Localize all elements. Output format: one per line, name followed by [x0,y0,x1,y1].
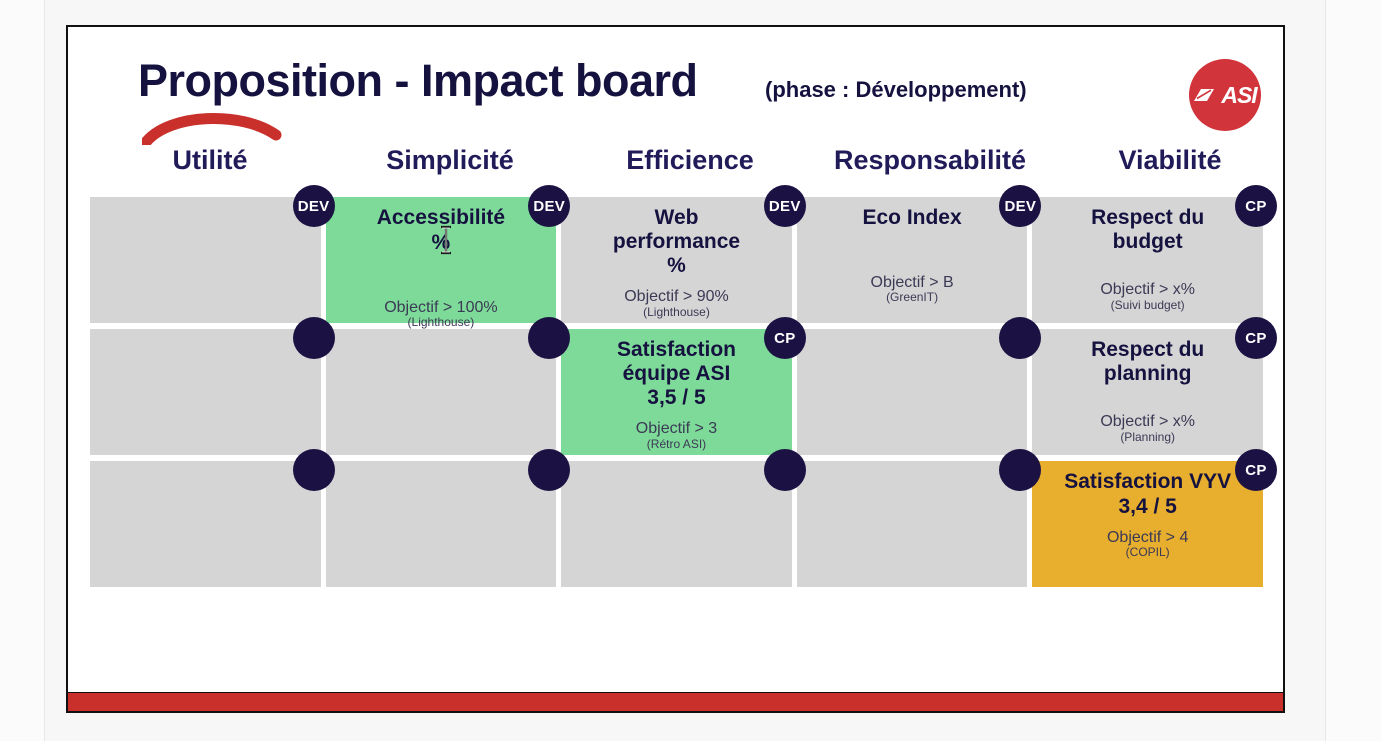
impact-cell-title: Eco Index [803,206,1022,230]
impact-cell-accessibilite[interactable]: DEV Accessibilité % Objectif > 100% (Lig… [326,197,557,323]
impact-cell-title: Satisfaction équipe ASI [567,338,786,385]
impact-cell-utilite-2[interactable] [90,329,321,455]
impact-cell-value: % [567,254,786,278]
owner-badge-empty[interactable] [293,449,335,491]
slide-canvas: Proposition - Impact board (phase : Déve… [66,25,1285,713]
column-header-viabilite: Viabilité [1050,145,1290,176]
owner-badge-empty[interactable] [293,317,335,359]
impact-cell-responsabilite-2[interactable] [797,329,1028,455]
column-header-utilite: Utilité [90,145,330,176]
impact-cell-efficience-3[interactable] [561,461,792,587]
owner-badge-empty[interactable] [764,449,806,491]
impact-cell-source: (GreenIT) [803,291,1022,304]
impact-cell-value: 3,5 / 5 [567,386,786,410]
page-gutter-right [1325,0,1326,741]
impact-board-grid: DEV DEV Accessibilité % Objectif > 100% … [90,197,1268,593]
impact-cell-objective: Objectif > 100% [332,299,551,317]
impact-cell-value: 3,4 / 5 [1038,495,1257,519]
column-header-efficience: Efficience [570,145,810,176]
impact-cell-objective: Objectif > x% [1038,281,1257,299]
impact-cell-utilite-1[interactable]: DEV [90,197,321,323]
impact-cell-satisfaction-vyv[interactable]: CP Satisfaction VYV 3,4 / 5 Objectif > 4… [1032,461,1263,587]
owner-badge-empty[interactable] [528,449,570,491]
impact-cell-source: (Rétro ASI) [567,438,786,451]
text-caret-icon [439,225,453,255]
impact-cell-responsabilite-3[interactable] [797,461,1028,587]
owner-badge-empty[interactable] [528,317,570,359]
impact-cell-simplicite-2[interactable] [326,329,557,455]
impact-cell-source: (Lighthouse) [567,306,786,319]
slide-viewer-page: Proposition - Impact board (phase : Déve… [0,0,1381,741]
impact-cell-simplicite-3[interactable] [326,461,557,587]
column-header-row: Utilité Simplicité Efficience Responsabi… [90,145,1265,176]
owner-badge-cp[interactable]: CP [764,317,806,359]
impact-cell-objective: Objectif > B [803,274,1022,292]
slide-footer-bar [68,692,1283,711]
asi-swoosh-icon [1193,87,1215,103]
page-left-margin [0,0,44,741]
impact-cell-source: (Lighthouse) [332,316,551,329]
page-right-margin [1326,0,1381,741]
impact-cell-objective: Objectif > 90% [567,288,786,306]
page-title: Proposition - Impact board [138,55,698,107]
impact-cell-source: (COPIL) [1038,546,1257,559]
impact-cell-source: (Suivi budget) [1038,299,1257,312]
impact-cell-source: (Planning) [1038,431,1257,444]
impact-cell-eco-index[interactable]: DEV Eco Index Objectif > B (GreenIT) [797,197,1028,323]
owner-badge-cp[interactable]: CP [1235,317,1277,359]
impact-cell-satisfaction-equipe-asi[interactable]: CP Satisfaction équipe ASI 3,5 / 5 Objec… [561,329,792,455]
grid-row: CP Satisfaction équipe ASI 3,5 / 5 Objec… [90,329,1268,455]
slide-header: Proposition - Impact board (phase : Déve… [68,27,1283,137]
impact-cell-title: Respect du budget [1038,206,1257,253]
asi-logo: ASI [1189,59,1261,131]
impact-cell-objective: Objectif > 3 [567,420,786,438]
phase-label: (phase : Développement) [765,77,1027,103]
owner-badge-cp[interactable]: CP [1235,185,1277,227]
impact-cell-objective: Objectif > 4 [1038,529,1257,547]
owner-badge-cp[interactable]: CP [1235,449,1277,491]
impact-cell-web-performance[interactable]: DEV Web performance % Objectif > 90% (Li… [561,197,792,323]
page-gutter-left [44,0,45,741]
column-header-responsabilite: Responsabilité [810,145,1050,176]
grid-row: CP Satisfaction VYV 3,4 / 5 Objectif > 4… [90,461,1268,587]
title-underline-swoosh-icon [142,109,282,145]
impact-cell-title: Web performance [567,206,786,253]
owner-badge-dev[interactable]: DEV [528,185,570,227]
grid-row: DEV DEV Accessibilité % Objectif > 100% … [90,197,1268,323]
column-header-simplicite: Simplicité [330,145,570,176]
asi-logo-text: ASI [1221,82,1256,109]
impact-cell-title: Respect du planning [1038,338,1257,385]
impact-cell-objective: Objectif > x% [1038,413,1257,431]
impact-cell-title: Satisfaction VYV [1038,470,1257,494]
owner-badge-dev[interactable]: DEV [293,185,335,227]
impact-cell-respect-planning[interactable]: CP Respect du planning Objectif > x% (Pl… [1032,329,1263,455]
impact-cell-respect-budget[interactable]: CP Respect du budget Objectif > x% (Suiv… [1032,197,1263,323]
impact-cell-utilite-3[interactable] [90,461,321,587]
owner-badge-dev[interactable]: DEV [764,185,806,227]
